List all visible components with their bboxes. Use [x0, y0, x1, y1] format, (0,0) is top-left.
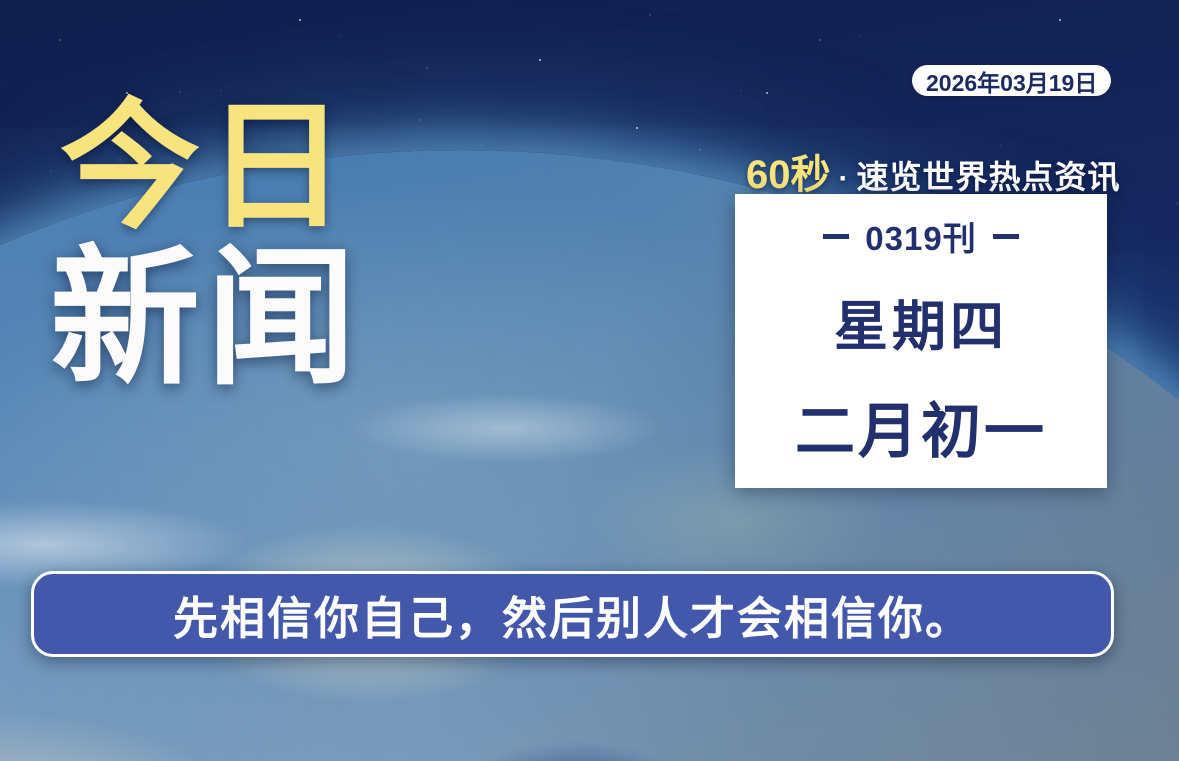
lunar-date-label: 二月初一: [795, 383, 1047, 470]
issue-number: 0319刊: [865, 212, 976, 260]
quote-text: 先相信你自己，然后别人才会相信你。: [173, 582, 972, 647]
date-badge: 2026年03月19日: [912, 65, 1111, 96]
tagline-text: 速览世界热点资讯: [857, 152, 1121, 198]
quote-banner: 先相信你自己，然后别人才会相信你。: [31, 571, 1114, 657]
tagline-separator-dot: ·: [839, 162, 849, 196]
headline-line-today: 今日: [60, 98, 480, 238]
tagline: 60秒 · 速览世界热点资讯: [746, 142, 1121, 200]
date-info-card: 0319刊 星期四 二月初一: [735, 194, 1107, 488]
issue-row: 0319刊: [823, 212, 1018, 260]
headline-line-news: 新闻: [50, 244, 480, 394]
tagline-seconds: 60秒: [746, 142, 831, 200]
dash-left-icon: [823, 234, 849, 239]
page-title: 今日 新闻: [60, 98, 480, 394]
weekday-label: 星期四: [834, 282, 1008, 361]
news-poster: 今日 新闻 2026年03月19日 60秒 · 速览世界热点资讯 0319刊 星…: [0, 0, 1179, 761]
dash-right-icon: [993, 234, 1019, 239]
